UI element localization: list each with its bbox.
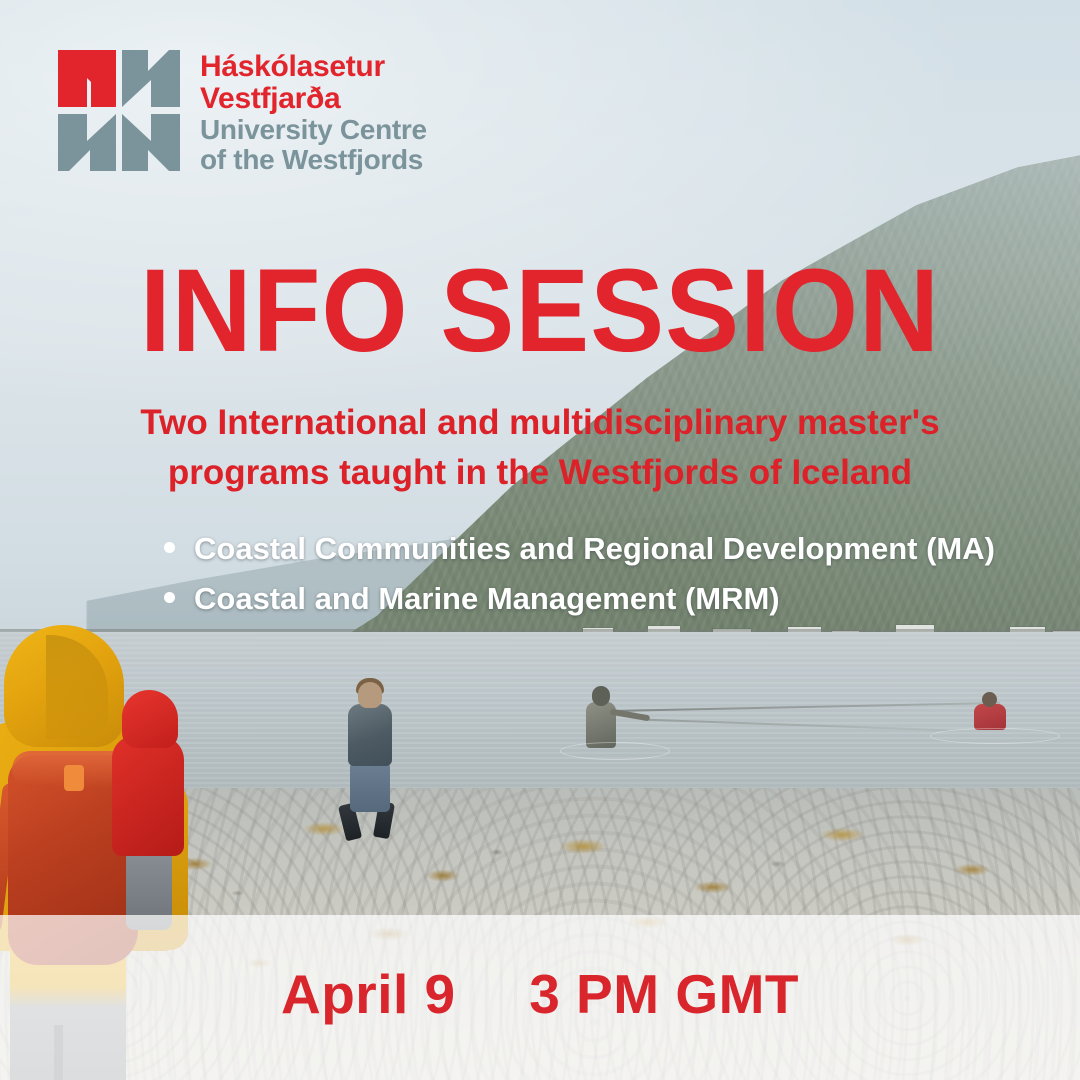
subtitle-line-1: Two International and multidisciplinary … [90, 398, 990, 448]
event-datetime: April 9 3 PM GMT [0, 962, 1080, 1026]
program-name: Coastal Communities and Regional Develop… [194, 531, 995, 566]
program-list: Coastal Communities and Regional Develop… [160, 524, 1060, 624]
logo-line-university-centre: University Centre [200, 116, 427, 144]
logo-line-vestfjarda: Vestfjarða [200, 84, 427, 114]
subtitle-line-2: programs taught in the Westfjords of Ice… [90, 448, 990, 498]
logo-arrow-top-left-red [58, 50, 116, 107]
event-time: 3 PM GMT [529, 963, 799, 1025]
walker-sweater [348, 704, 392, 766]
walker-head [358, 682, 382, 708]
program-name: Coastal and Marine Management (MRM) [194, 581, 780, 616]
logo-wordmark: Háskólasetur Vestfjarða University Centr… [200, 50, 427, 174]
list-item: Coastal Communities and Regional Develop… [160, 524, 1060, 574]
wader-head [592, 686, 610, 706]
red-figure-body [112, 736, 184, 856]
walker-jeans [350, 762, 390, 812]
info-session-poster: Háskólasetur Vestfjarða University Centr… [0, 0, 1080, 1080]
subtitle: Two International and multidisciplinary … [90, 398, 990, 497]
logo[interactable]: Háskólasetur Vestfjarða University Centr… [58, 50, 427, 174]
logo-arrow-top-right [122, 50, 180, 107]
bullet-dot-icon [164, 592, 175, 603]
water-ripple [930, 728, 1060, 744]
backpack-buckle [64, 765, 84, 791]
far-wader-jacket [974, 704, 1006, 730]
bullet-dot-icon [164, 542, 175, 553]
logo-arrow-bottom-left [58, 114, 116, 171]
logo-line-of-the-westfjords: of the Westfjords [200, 146, 427, 174]
list-item: Coastal and Marine Management (MRM) [160, 574, 1060, 624]
red-figure-hood [122, 690, 178, 748]
water-ripple [560, 742, 670, 760]
person-walking-shore [340, 682, 402, 842]
event-date: April 9 [281, 963, 456, 1025]
far-wader-head [982, 692, 997, 707]
logo-line-haskolasetur: Háskólasetur [200, 52, 427, 82]
university-centre-westfjords-arrows-mark [58, 50, 184, 174]
person-red-hood [108, 690, 188, 930]
logo-arrow-bottom-right [122, 114, 180, 171]
page-title: INFO SESSION [32, 252, 1047, 370]
